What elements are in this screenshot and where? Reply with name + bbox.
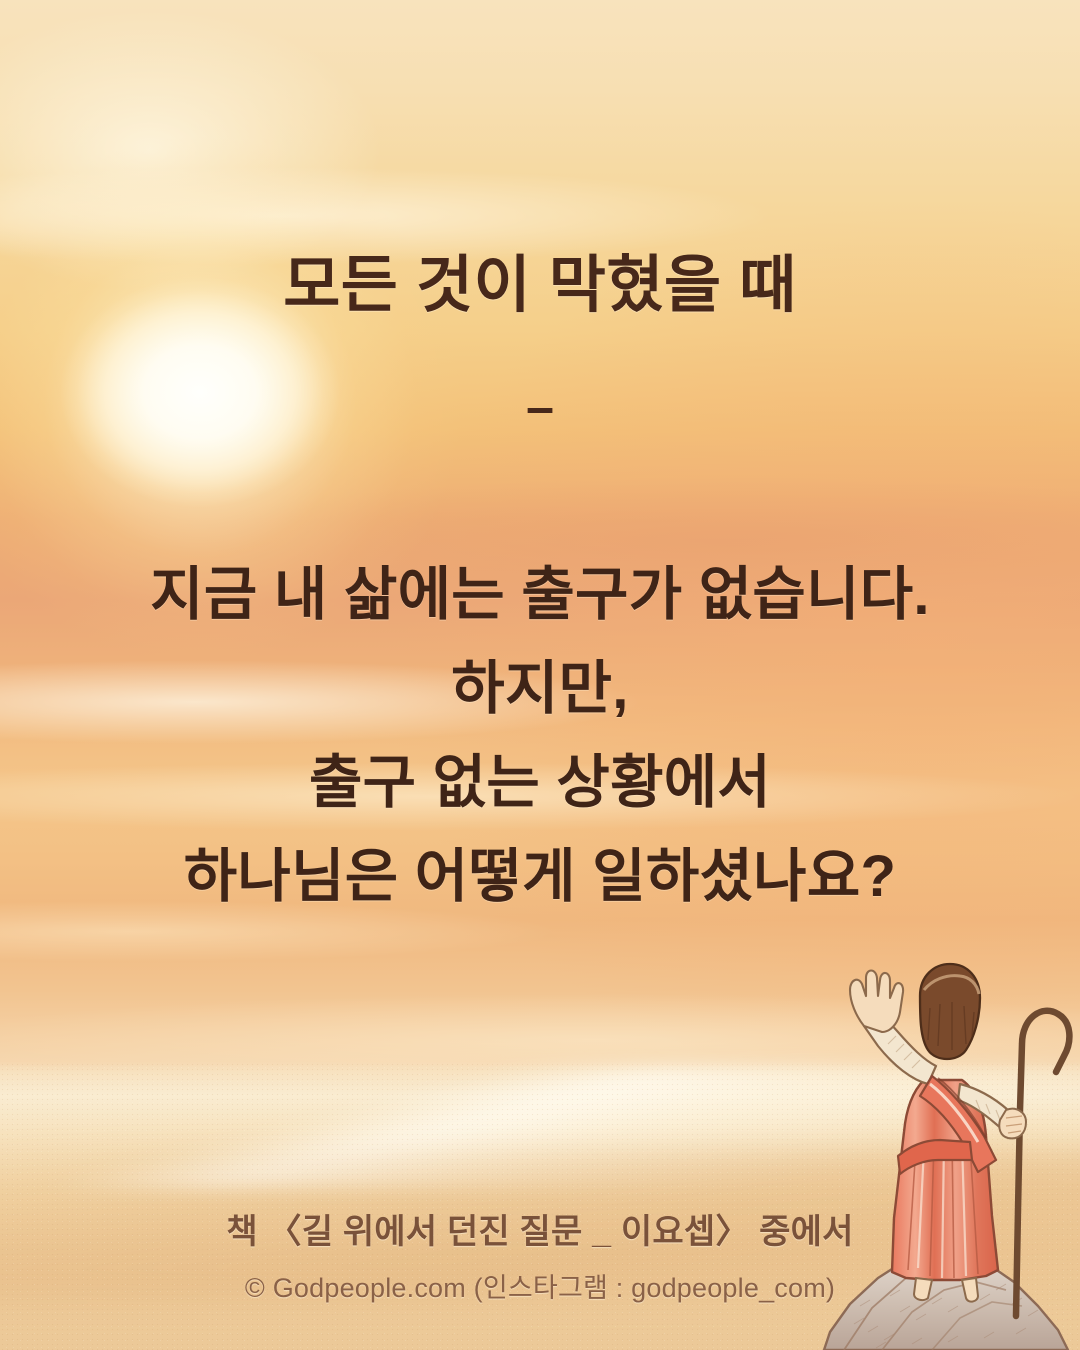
copyright-notice: © Godpeople.com (인스타그램 : godpeople_com) bbox=[0, 1270, 1080, 1306]
headline: 모든 것이 막혔을 때 bbox=[0, 234, 1080, 324]
divider-dash: – bbox=[0, 382, 1080, 432]
quote-line-2: 하지만, bbox=[0, 642, 1080, 736]
card-content: 모든 것이 막혔을 때 – 지금 내 삶에는 출구가 없습니다. 하지만, 출구… bbox=[0, 0, 1080, 1350]
quote-line-1: 지금 내 삶에는 출구가 없습니다. bbox=[0, 548, 1080, 642]
quote-line-4: 하나님은 어떻게 일하셨나요? bbox=[0, 830, 1080, 924]
source-attribution: 책 〈길 위에서 던진 질문 _ 이요셉〉 중에서 bbox=[0, 1208, 1080, 1256]
quote-card: 모든 것이 막혔을 때 – 지금 내 삶에는 출구가 없습니다. 하지만, 출구… bbox=[0, 0, 1080, 1350]
quote-block: 지금 내 삶에는 출구가 없습니다. 하지만, 출구 없는 상황에서 하나님은 … bbox=[0, 548, 1080, 924]
footer: 책 〈길 위에서 던진 질문 _ 이요셉〉 중에서 © Godpeople.co… bbox=[0, 1208, 1080, 1306]
quote-line-3: 출구 없는 상황에서 bbox=[0, 736, 1080, 830]
